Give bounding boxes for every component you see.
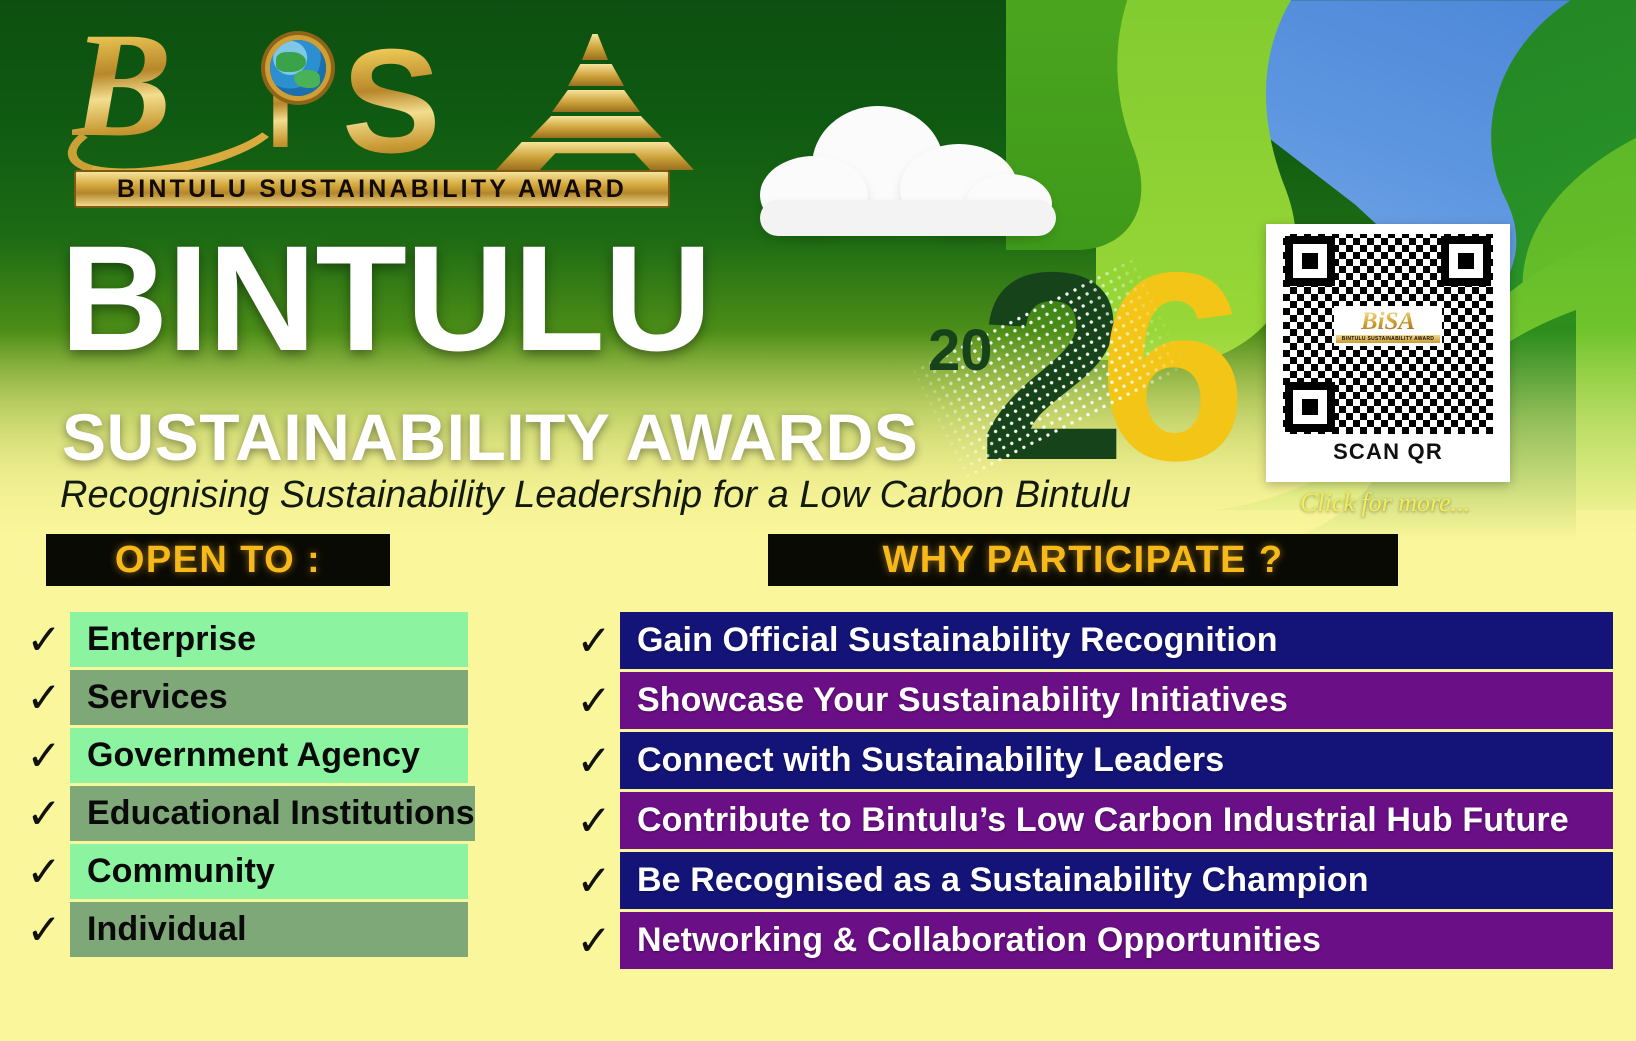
list-item-bar: Be Recognised as a Sustainability Champi… bbox=[620, 852, 1613, 909]
qr-embedded-logo: BiSA BINTULU SUSTAINABILITY AWARD bbox=[1334, 306, 1442, 346]
list-item-bar: Enterprise bbox=[70, 612, 468, 667]
section-header-why-participate: WHY PARTICIPATE ? bbox=[768, 534, 1398, 586]
bisa-logo: B i S BINTULU SUSTAINABILITY AWARD bbox=[66, 22, 676, 214]
qr-logo-mark: BiSA bbox=[1361, 309, 1415, 334]
list-item: ✓ Be Recognised as a Sustainability Cham… bbox=[568, 852, 1613, 909]
list-item: ✓ Individual bbox=[18, 902, 468, 957]
list-item-bar: Networking & Collaboration Opportunities bbox=[620, 912, 1613, 969]
list-item-label: Connect with Sustainability Leaders bbox=[637, 741, 1224, 780]
qr-panel[interactable]: BiSA BINTULU SUSTAINABILITY AWARD SCAN Q… bbox=[1266, 224, 1510, 482]
list-item: ✓ Services bbox=[18, 670, 468, 725]
list-item: ✓ Gain Official Sustainability Recogniti… bbox=[568, 612, 1613, 669]
check-icon: ✓ bbox=[18, 786, 70, 841]
logo-letter-b: B bbox=[72, 10, 172, 160]
section-header-why-participate-label: WHY PARTICIPATE ? bbox=[883, 539, 1284, 582]
check-icon: ✓ bbox=[568, 612, 620, 669]
check-icon: ✓ bbox=[18, 844, 70, 899]
list-item-bar: Community bbox=[70, 844, 468, 899]
list-item-bar: Connect with Sustainability Leaders bbox=[620, 732, 1613, 789]
list-item-bar: Contribute to Bintulu’s Low Carbon Indus… bbox=[620, 792, 1613, 849]
list-item-label: Community bbox=[87, 852, 275, 891]
list-item: ✓ Networking & Collaboration Opportuniti… bbox=[568, 912, 1613, 969]
section-header-open-to: OPEN TO : bbox=[46, 534, 390, 586]
list-item-bar: Educational Institutions bbox=[70, 786, 475, 841]
list-item-label: Enterprise bbox=[87, 620, 256, 659]
list-item-label: Be Recognised as a Sustainability Champi… bbox=[637, 861, 1369, 900]
list-item-label: Educational Institutions bbox=[87, 794, 475, 833]
qr-click-for-more-link[interactable]: Click for more... bbox=[1300, 488, 1470, 518]
year-prefix-20: 20 bbox=[928, 322, 993, 380]
check-icon: ✓ bbox=[18, 670, 70, 725]
list-item-bar: Government Agency bbox=[70, 728, 468, 783]
logo-wordmark-text: BINTULU SUSTAINABILITY AWARD bbox=[117, 175, 627, 204]
list-item-bar: Showcase Your Sustainability Initiatives bbox=[620, 672, 1613, 729]
check-icon: ✓ bbox=[18, 612, 70, 667]
bisa-logo-marks: B i S bbox=[66, 22, 676, 170]
globe-icon bbox=[270, 40, 326, 96]
list-item: ✓ Educational Institutions bbox=[18, 786, 468, 841]
qr-code-image[interactable]: BiSA BINTULU SUSTAINABILITY AWARD bbox=[1283, 234, 1493, 434]
check-icon: ✓ bbox=[568, 852, 620, 909]
list-item-label: Government Agency bbox=[87, 736, 420, 775]
list-item-label: Individual bbox=[87, 910, 247, 949]
why-participate-list: ✓ Gain Official Sustainability Recogniti… bbox=[568, 612, 1613, 972]
qr-finder-bottom-left bbox=[1285, 382, 1335, 432]
qr-logo-wordmark: BINTULU SUSTAINABILITY AWARD bbox=[1336, 335, 1440, 343]
list-item: ✓ Government Agency bbox=[18, 728, 468, 783]
section-header-open-to-label: OPEN TO : bbox=[115, 539, 321, 582]
list-item-bar: Services bbox=[70, 670, 468, 725]
page-subtitle: SUSTAINABILITY AWARDS bbox=[62, 404, 918, 470]
page-title: BINTULU bbox=[60, 228, 711, 369]
check-icon: ✓ bbox=[18, 728, 70, 783]
qr-finder-top-left bbox=[1285, 236, 1335, 286]
poster-root: B i S BINTULU SUSTAINABILITY AWARD BINTU… bbox=[0, 0, 1636, 1041]
list-item-label: Gain Official Sustainability Recognition bbox=[637, 621, 1278, 660]
list-item-label: Showcase Your Sustainability Initiatives bbox=[637, 681, 1288, 720]
list-item-label: Contribute to Bintulu’s Low Carbon Indus… bbox=[637, 801, 1569, 840]
check-icon: ✓ bbox=[568, 672, 620, 729]
list-item-bar: Individual bbox=[70, 902, 468, 957]
check-icon: ✓ bbox=[568, 912, 620, 969]
check-icon: ✓ bbox=[568, 792, 620, 849]
list-item: ✓ Contribute to Bintulu’s Low Carbon Ind… bbox=[568, 792, 1613, 849]
list-item: ✓ Enterprise bbox=[18, 612, 468, 667]
cloud-icon bbox=[760, 96, 1060, 236]
logo-pyramid-a-icon bbox=[496, 34, 694, 170]
check-icon: ✓ bbox=[18, 902, 70, 957]
qr-caption: SCAN QR bbox=[1333, 439, 1443, 465]
list-item-bar: Gain Official Sustainability Recognition bbox=[620, 612, 1613, 669]
year-graphic: 2 6 20 bbox=[918, 238, 1218, 488]
logo-letter-s: S bbox=[342, 28, 441, 176]
list-item: ✓ Connect with Sustainability Leaders bbox=[568, 732, 1613, 789]
list-item-label: Networking & Collaboration Opportunities bbox=[637, 921, 1321, 960]
open-to-list: ✓ Enterprise ✓ Services ✓ Government Age… bbox=[18, 612, 468, 960]
check-icon: ✓ bbox=[568, 732, 620, 789]
logo-wordmark-bar: BINTULU SUSTAINABILITY AWARD bbox=[74, 170, 670, 208]
list-item: ✓ Showcase Your Sustainability Initiativ… bbox=[568, 672, 1613, 729]
qr-finder-top-right bbox=[1441, 236, 1491, 286]
list-item: ✓ Community bbox=[18, 844, 468, 899]
list-item-label: Services bbox=[87, 678, 228, 717]
